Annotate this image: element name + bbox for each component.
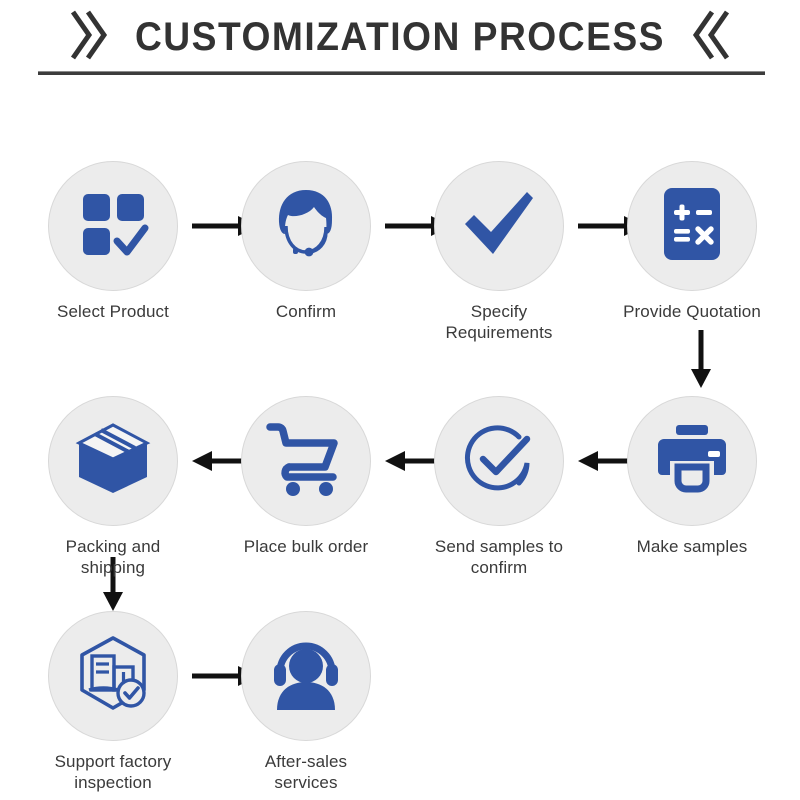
step-place-bulk-order[interactable]: Place bulk order	[232, 396, 380, 558]
step-support-factory-inspection[interactable]: Support factory inspection	[39, 611, 187, 793]
headset-agent-icon	[264, 182, 348, 271]
step-label: Packing and shipping	[39, 537, 187, 578]
step-icon-circle	[627, 396, 757, 526]
grid-check-icon	[75, 186, 151, 267]
checkmark-icon	[457, 182, 541, 271]
step-icon-circle	[434, 396, 564, 526]
step-label: Send samples to confirm	[425, 537, 573, 578]
step-icon-circle	[48, 161, 178, 291]
step-make-samples[interactable]: Make samples	[618, 396, 766, 558]
step-label: Confirm	[276, 302, 336, 323]
factory-shield-check-icon	[71, 632, 155, 721]
arrow-4	[686, 328, 716, 390]
calculator-icon	[654, 184, 730, 269]
step-icon-circle	[241, 396, 371, 526]
shopping-cart-icon	[264, 419, 348, 504]
step-label: Support factory inspection	[55, 752, 172, 793]
step-icon-circle	[48, 396, 178, 526]
step-label: Specify Requirements	[425, 302, 573, 343]
support-agent-icon	[264, 634, 348, 719]
step-specify-requirements[interactable]: Specify Requirements	[425, 161, 573, 343]
step-select-product[interactable]: Select Product	[39, 161, 187, 323]
step-icon-circle	[434, 161, 564, 291]
step-icon-circle	[241, 611, 371, 741]
printer-icon	[652, 421, 732, 502]
step-label: After-sales services	[232, 752, 380, 793]
step-after-sales-services[interactable]: After-sales services	[232, 611, 380, 793]
step-label: Provide Quotation	[623, 302, 761, 323]
step-label: Make samples	[637, 537, 748, 558]
step-icon-circle	[627, 161, 757, 291]
step-confirm[interactable]: Confirm	[232, 161, 380, 323]
step-icon-circle	[241, 161, 371, 291]
step-send-samples[interactable]: Send samples to confirm	[425, 396, 573, 578]
step-packing-and-shipping[interactable]: Packing and shipping	[39, 396, 187, 578]
step-label: Select Product	[57, 302, 169, 323]
process-flow: Select Product Confirm Speci	[0, 0, 800, 800]
step-icon-circle	[48, 611, 178, 741]
step-provide-quotation[interactable]: Provide Quotation	[618, 161, 766, 323]
step-label: Place bulk order	[244, 537, 368, 558]
circle-check-icon	[457, 417, 541, 506]
package-box-icon	[71, 419, 155, 504]
